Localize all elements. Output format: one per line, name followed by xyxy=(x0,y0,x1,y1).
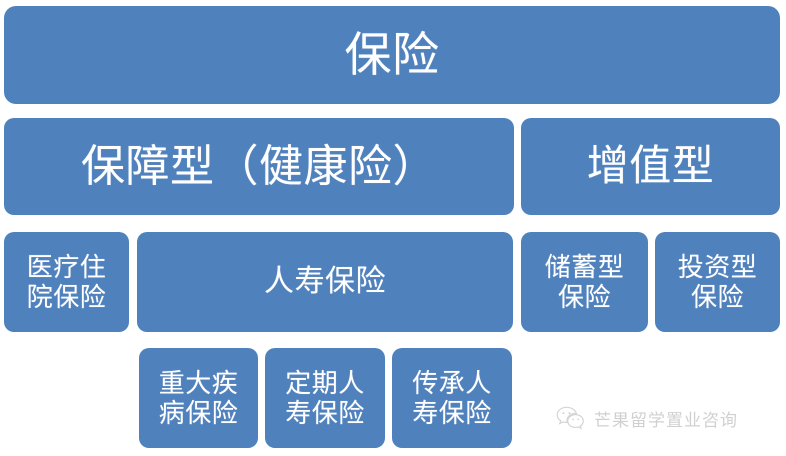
node-legacy-life-insurance-label: 传承人 寿保险 xyxy=(392,368,512,428)
node-insurance: 保险 xyxy=(4,6,780,104)
node-savings-insurance: 储蓄型 保险 xyxy=(521,232,648,332)
node-value-added-label: 增值型 xyxy=(521,142,780,191)
wechat-icon xyxy=(556,406,585,431)
node-protection-health-label: 保障型（健康险） xyxy=(4,141,514,192)
node-legacy-life-insurance: 传承人 寿保险 xyxy=(392,348,512,448)
node-critical-illness-insurance: 重大疾 病保险 xyxy=(139,348,258,448)
insurance-hierarchy-diagram: 保险 保障型（健康险） 增值型 医疗住 院保险 人寿保险 储蓄型 保险 投资型 … xyxy=(0,0,786,456)
node-life-insurance-label: 人寿保险 xyxy=(137,265,513,300)
node-medical-hospitalization-insurance: 医疗住 院保险 xyxy=(4,232,129,332)
node-critical-illness-insurance-label: 重大疾 病保险 xyxy=(139,368,258,428)
node-investment-insurance-label: 投资型 保险 xyxy=(655,252,780,312)
node-insurance-label: 保险 xyxy=(4,28,780,83)
node-medical-hospitalization-insurance-label: 医疗住 院保险 xyxy=(4,252,129,312)
watermark: 芒果留学置业咨询 xyxy=(556,406,738,431)
node-savings-insurance-label: 储蓄型 保险 xyxy=(521,252,648,312)
node-term-life-insurance: 定期人 寿保险 xyxy=(265,348,385,448)
node-term-life-insurance-label: 定期人 寿保险 xyxy=(265,368,385,428)
node-life-insurance: 人寿保险 xyxy=(137,232,513,332)
watermark-text: 芒果留学置业咨询 xyxy=(594,406,738,431)
node-protection-health: 保障型（健康险） xyxy=(4,118,514,215)
node-investment-insurance: 投资型 保险 xyxy=(655,232,780,332)
node-value-added: 增值型 xyxy=(521,118,780,215)
